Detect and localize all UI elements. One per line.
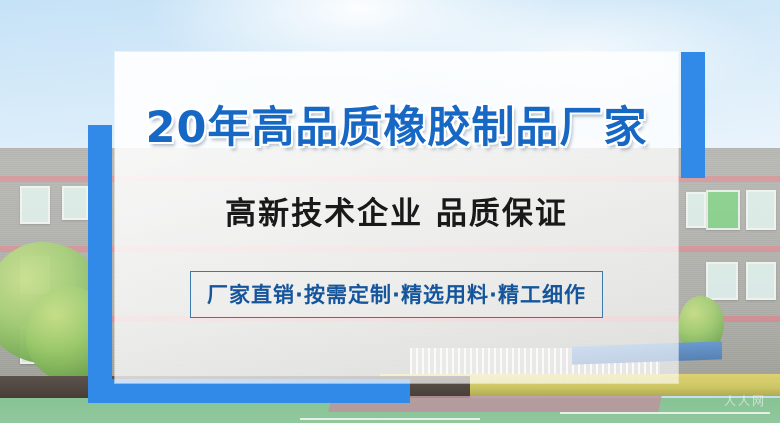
- tagline-text: 厂家直销·按需定制·精选用料·精工细作: [207, 279, 586, 309]
- headline-text: 20年高品质橡胶制品厂家: [146, 107, 648, 150]
- subheadline-text: 高新技术企业 品质保证: [225, 188, 568, 233]
- accent-bar-right-vertical: [681, 52, 705, 178]
- accent-bar-left-vertical: [88, 125, 112, 403]
- tagline-box: 厂家直销·按需定制·精选用料·精工细作: [190, 271, 603, 318]
- promo-banner: 人人网 20年高品质橡胶制品厂家 高新技术企业 品质保证 厂家直销·按需定制·精…: [0, 0, 780, 423]
- content-block: 20年高品质橡胶制品厂家 高新技术企业 品质保证 厂家直销·按需定制·精选用料·…: [115, 52, 678, 383]
